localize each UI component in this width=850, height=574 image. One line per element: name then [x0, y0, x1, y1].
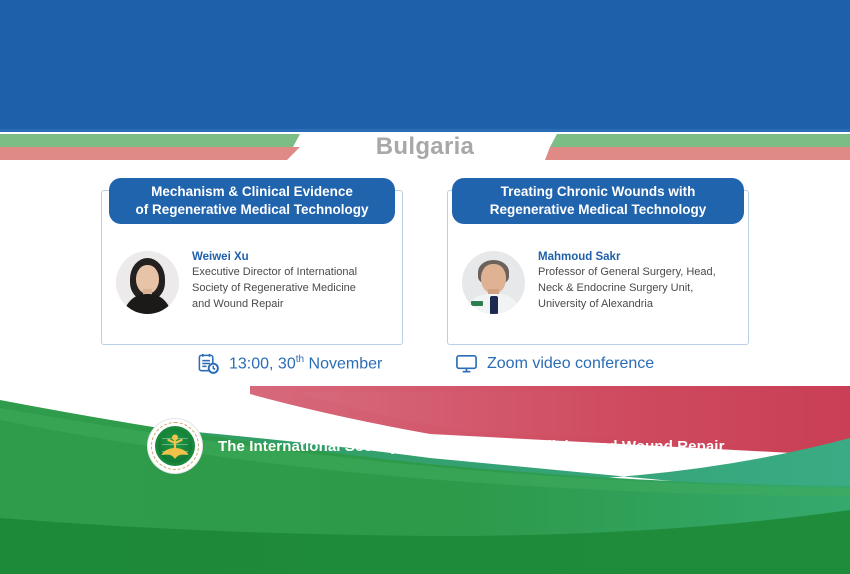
event-datetime: 13:00, 30th November: [197, 352, 382, 375]
event-day-suffix: th: [296, 354, 304, 365]
event-platform: Zoom video conference: [455, 352, 654, 375]
session-title-2-line2: Regenerative Medical Technology: [490, 202, 707, 217]
session-title-1: Mechanism & Clinical Evidence of Regener…: [109, 178, 395, 224]
top-blue-banner: [0, 0, 850, 129]
event-platform-label: Zoom video conference: [487, 355, 654, 373]
avatar-badge: [471, 301, 483, 306]
wave-graphics: [0, 386, 850, 574]
footer-branding: The International Society of Regenerativ…: [148, 419, 725, 473]
session-title-2-line1: Treating Chronic Wounds with: [501, 184, 696, 199]
meta-row: 13:00, 30th November Zoom video conferen…: [0, 352, 850, 382]
isrmwr-logo: [148, 419, 202, 473]
session-body-2: Mahmoud Sakr Professor of General Surger…: [448, 247, 748, 314]
session-card-1[interactable]: Mechanism & Clinical Evidence of Regener…: [101, 190, 403, 345]
speaker-name-1: Weiwei Xu: [192, 251, 370, 263]
organization-name: The International Society of Regenerativ…: [218, 438, 725, 455]
speaker-info-2: Mahmoud Sakr Professor of General Surger…: [538, 247, 716, 313]
session-card-2[interactable]: Treating Chronic Wounds with Regenerativ…: [447, 190, 749, 345]
session-title-1-line2: of Regenerative Medical Technology: [135, 202, 368, 217]
avatar: [462, 251, 525, 314]
session-title-2: Treating Chronic Wounds with Regenerativ…: [452, 178, 744, 224]
speaker-info-1: Weiwei Xu Executive Director of Internat…: [192, 247, 370, 313]
session-title-1-line1: Mechanism & Clinical Evidence: [151, 184, 353, 199]
logo-figure-icon: [160, 433, 190, 461]
speaker-name-2: Mahmoud Sakr: [538, 251, 716, 263]
avatar-tie: [490, 296, 498, 314]
monitor-icon: [455, 352, 478, 375]
footer-waves: [0, 386, 850, 574]
session-body-1: Weiwei Xu Executive Director of Internat…: [102, 247, 402, 314]
event-poster: Bulgaria Mechanism & Clinical Evidence o…: [0, 0, 850, 574]
event-time: 13:00, 30: [229, 355, 296, 372]
logo-disc: [155, 426, 195, 466]
avatar: [116, 251, 179, 314]
calendar-clock-icon: [197, 352, 220, 375]
country-label: Bulgaria: [0, 129, 850, 165]
event-month: November: [304, 355, 382, 372]
speaker-title-2: Professor of General Surgery, Head, Neck…: [538, 265, 716, 313]
event-datetime-text: 13:00, 30th November: [229, 354, 382, 373]
speaker-title-1: Executive Director of International Soci…: [192, 265, 370, 313]
